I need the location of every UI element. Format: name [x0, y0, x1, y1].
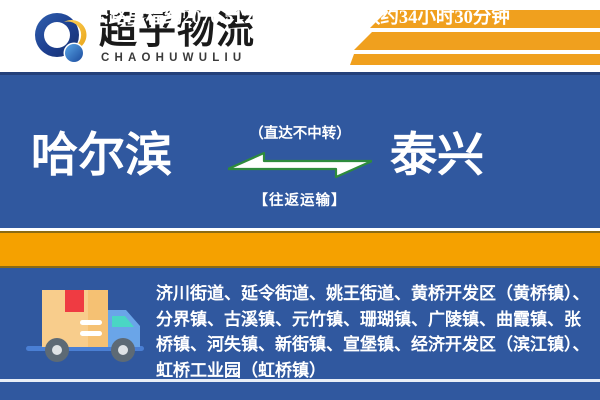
logistics-route-banner: 超乎物流 CHAOHUWULIU 哈尔滨 泰兴 （直达不中转） 【往返运输】 公… — [0, 0, 600, 400]
direct-service-note: （直达不中转） — [0, 122, 600, 143]
bottom-rule — [0, 379, 600, 382]
brand-name-en: CHAOHUWULIU — [101, 52, 246, 64]
metrics-bar-text: 公路里程约2070.51公里 运输时效约34小时30分钟 — [0, 0, 600, 37]
metrics-bar — [0, 231, 600, 268]
coverage-area-list: 济川街道、延令街道、姚王街道、黄桥开发区（黄桥镇）、分界镇、古溪镇、元竹镇、珊瑚… — [156, 281, 594, 383]
distance-value: 公路里程约2070.51公里 — [90, 8, 280, 28]
double-headed-arrow-icon — [228, 147, 372, 183]
duration-value: 运输时效约34小时30分钟 — [306, 8, 510, 28]
roundtrip-service-note: 【往返运输】 — [0, 189, 600, 210]
delivery-truck-icon — [20, 284, 150, 369]
